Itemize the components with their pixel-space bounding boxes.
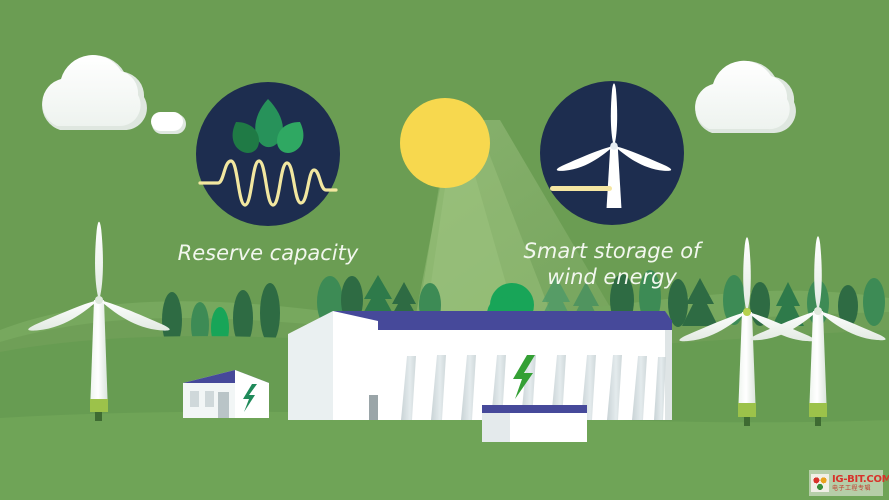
smart-storage-icon-circle[interactable] [540,81,684,225]
scene-svg: Reserve capacity Smart storage of wind e… [0,0,889,500]
warehouse-main[interactable] [288,311,672,420]
sun-icon [400,98,490,188]
ig-bit-logo-icon [811,474,829,492]
ground-front [0,412,889,500]
illustration-scene: Reserve capacity Smart storage of wind e… [0,0,889,500]
watermark-main-text: IG-BIT.COM [832,475,889,485]
label-reserve-capacity: Reserve capacity [178,241,359,265]
label-smart-storage-line2: wind energy [547,265,677,289]
watermark-text: IG-BIT.COM 电子工程专辑 [832,475,889,492]
platform-small[interactable] [482,405,587,442]
watermark-sub-text: 电子工程专辑 [832,486,889,492]
reserve-capacity-icon-circle[interactable] [196,82,340,226]
cloud-small-left [151,112,186,134]
watermark: IG-BIT.COM 电子工程专辑 [809,470,883,496]
gold-bar-icon [550,186,612,191]
label-smart-storage-line1: Smart storage of [524,239,704,263]
